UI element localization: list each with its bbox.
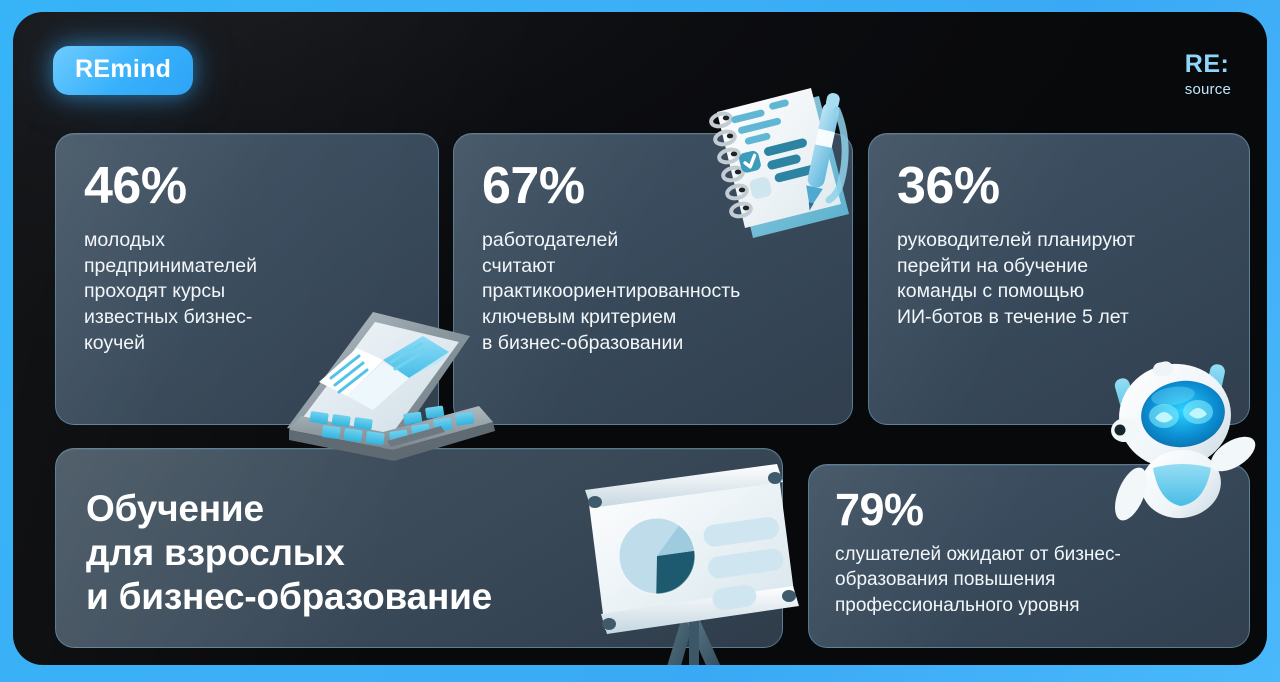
stat-description-36: руководителей планируют перейти на обуче…	[897, 228, 1223, 331]
remind-logo-badge[interactable]: REmind	[53, 46, 193, 95]
stat-card-67: 67% работодателей считают практикоориент…	[453, 133, 853, 425]
stat-description-79: слушателей ожидают от бизнес- образовани…	[835, 542, 1229, 618]
stat-value-46: 46%	[84, 160, 412, 212]
resource-publisher-logo: RE: source	[1185, 52, 1231, 97]
stat-value-67: 67%	[482, 160, 826, 212]
publisher-logo-top-text: RE:	[1185, 52, 1231, 77]
headline-card: Обучение для взрослых и бизнес-образован…	[55, 448, 783, 648]
stat-description-67: работодателей считают практикоориентиров…	[482, 228, 826, 357]
stat-card-79: 79% слушателей ожидают от бизнес- образо…	[808, 464, 1250, 648]
infographic-canvas: REmind RE: source 46% молодых предприним…	[0, 0, 1280, 682]
publisher-logo-bottom-text: source	[1185, 82, 1231, 97]
stat-description-46: молодых предпринимателей проходят курсы …	[84, 228, 412, 357]
stat-value-79: 79%	[835, 487, 1229, 532]
inner-panel: REmind RE: source 46% молодых предприним…	[13, 12, 1267, 665]
stat-card-46: 46% молодых предпринимателей проходят ку…	[55, 133, 439, 425]
stat-card-36: 36% руководителей планируют перейти на о…	[868, 133, 1250, 425]
headline-text: Обучение для взрослых и бизнес-образован…	[56, 449, 782, 619]
remind-logo-label: REmind	[75, 55, 171, 83]
stat-value-36: 36%	[897, 160, 1223, 212]
